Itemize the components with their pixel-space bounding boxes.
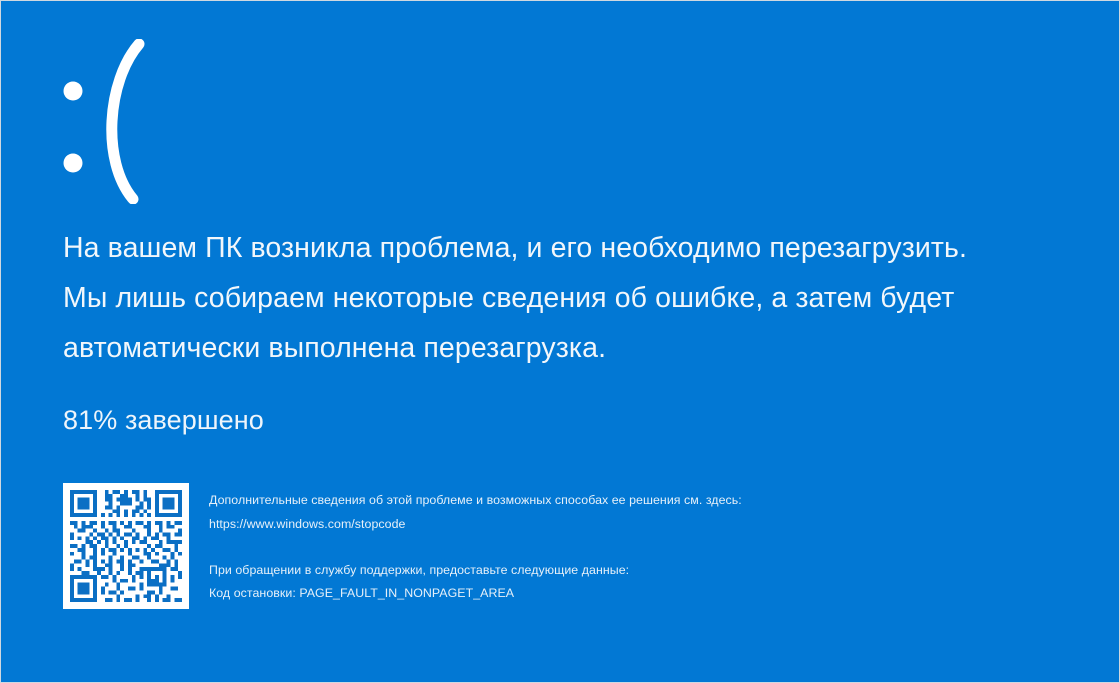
details-block: Дополнительные сведения об этой проблеме… (63, 483, 1063, 609)
bsod-screen: На вашем ПК возникла проблема, и его нео… (0, 0, 1120, 683)
support-text: При обращении в службу поддержки, предос… (209, 559, 1063, 581)
stop-code-line: Код остановки: PAGE_FAULT_IN_NONPAGET_AR… (209, 581, 1063, 604)
stopcode-url[interactable]: https://www.windows.com/stopcode (209, 511, 1063, 535)
support-block: При обращении в службу поддержки, предос… (209, 559, 1063, 604)
details-text: Дополнительные сведения об этой проблеме… (189, 483, 1063, 604)
message-line-3: автоматически выполнена перезагрузка. (63, 323, 1063, 373)
more-info-text: Дополнительные сведения об этой проблеме… (209, 489, 1063, 511)
progress-status: 81% завершено (63, 403, 264, 437)
bsod-message: На вашем ПК возникла проблема, и его нео… (63, 223, 1063, 373)
message-line-1: На вашем ПК возникла проблема, и его нео… (63, 223, 1063, 273)
sad-face-emoticon (61, 39, 181, 204)
qr-code-icon (63, 483, 189, 609)
message-line-2: Мы лишь собираем некоторые сведения об о… (63, 273, 1063, 323)
